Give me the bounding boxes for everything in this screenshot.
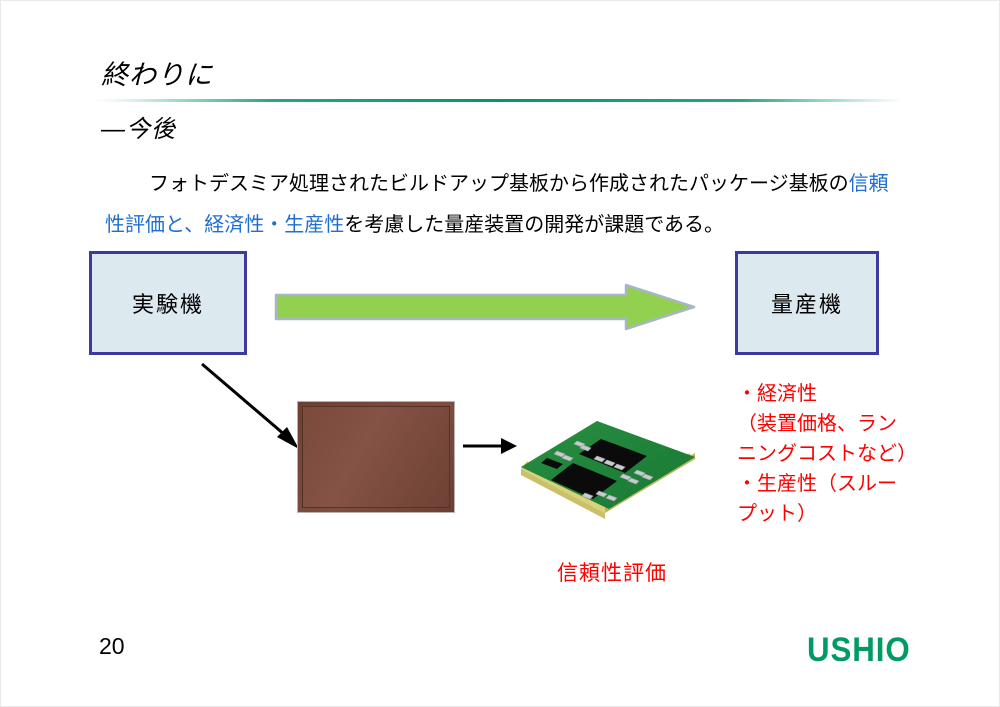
slide-canvas: 終わりに —今後 フォトデスミア処理されたビルドアップ基板から作成されたパッケー…	[0, 0, 1000, 707]
red-note-line-4: ・生産性（スルー	[737, 469, 937, 499]
small-right-arrow-icon	[461, 433, 519, 459]
box-mass-production-machine[interactable]: 量産機	[735, 251, 879, 355]
page-subtitle: —今後	[101, 109, 176, 144]
box-mass-production-machine-label: 量産機	[771, 287, 843, 319]
green-progression-arrow-icon	[274, 283, 696, 331]
page-title: 終わりに	[101, 53, 213, 92]
red-note-line-1: ・経済性	[737, 379, 937, 409]
red-note-line-5: プット）	[737, 499, 937, 529]
page-number: 20	[99, 633, 125, 660]
red-notes-block: ・経済性 （装置価格、ラン ニングコストなど） ・生産性（スルー プット）	[737, 379, 937, 529]
body-segment-1: フォトデスミア処理されたビルドアップ基板から作成されたパッケージ基板の	[129, 173, 849, 195]
title-divider-rule	[93, 99, 903, 102]
red-note-line-2: （装置価格、ラン	[737, 409, 937, 439]
red-note-line-3: ニングコストなど）	[737, 439, 937, 469]
package-substrate-image	[513, 403, 703, 533]
diagonal-arrow-icon	[199, 361, 305, 453]
body-segment-2: を考慮した量産装置の開発が課題である。	[344, 214, 724, 236]
ushio-logo: USHIO	[807, 631, 911, 670]
buildup-substrate-image	[297, 401, 455, 513]
body-paragraph: フォトデスミア処理されたビルドアップ基板から作成されたパッケージ基板の信頼性評価…	[105, 164, 905, 246]
box-experimental-machine[interactable]: 実験機	[89, 251, 247, 355]
reliability-evaluation-caption: 信頼性評価	[557, 557, 667, 587]
box-experimental-machine-label: 実験機	[132, 287, 204, 319]
